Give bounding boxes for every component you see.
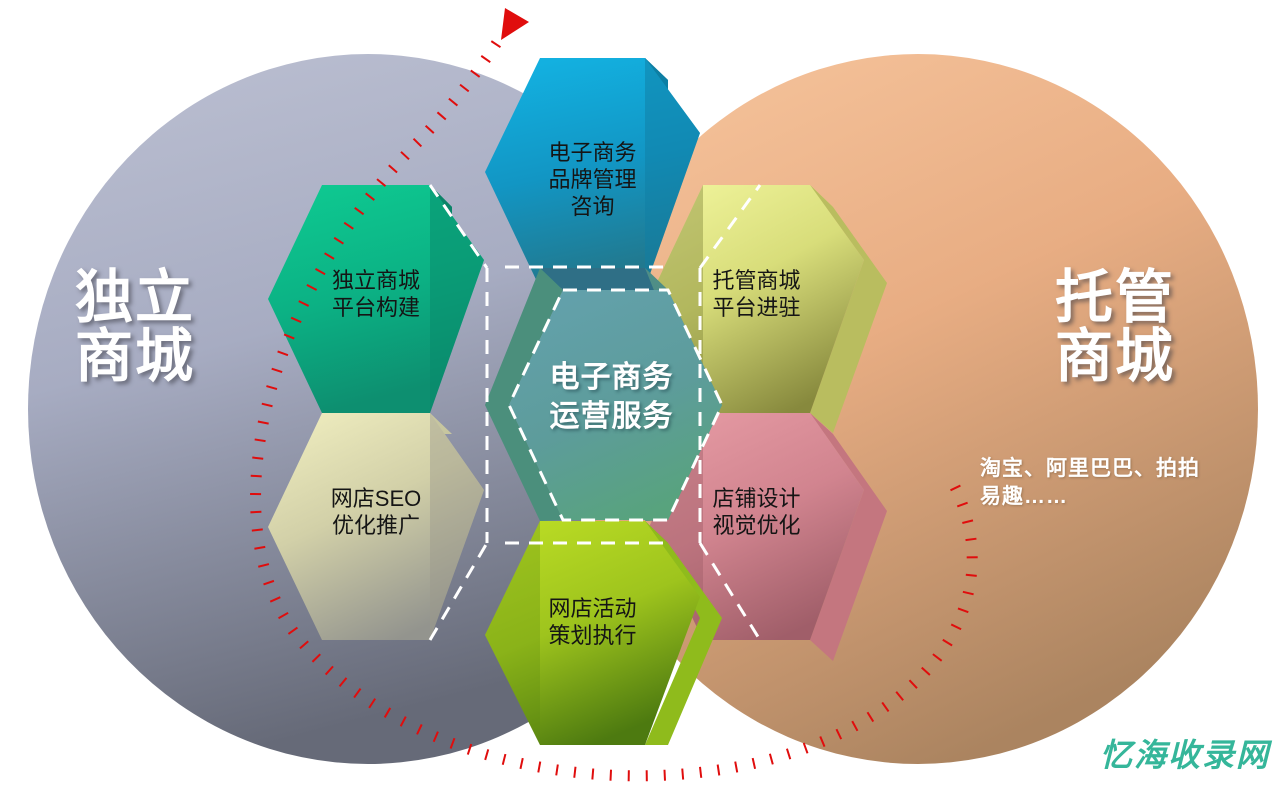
red-dotted-arrow-layer bbox=[0, 0, 1286, 792]
watermark: 忆海收录网 bbox=[1100, 730, 1270, 776]
red-arrowhead-icon bbox=[501, 8, 529, 40]
right-circle-note: 淘宝、阿里巴巴、拍拍 易趣…… bbox=[980, 455, 1280, 512]
red-dotted-arrow-path bbox=[256, 30, 973, 776]
diagram-canvas: 独立 商城 托管 商城 淘宝、阿里巴巴、拍拍 易趣…… 电子商务 品牌管理 咨询… bbox=[0, 0, 1286, 792]
